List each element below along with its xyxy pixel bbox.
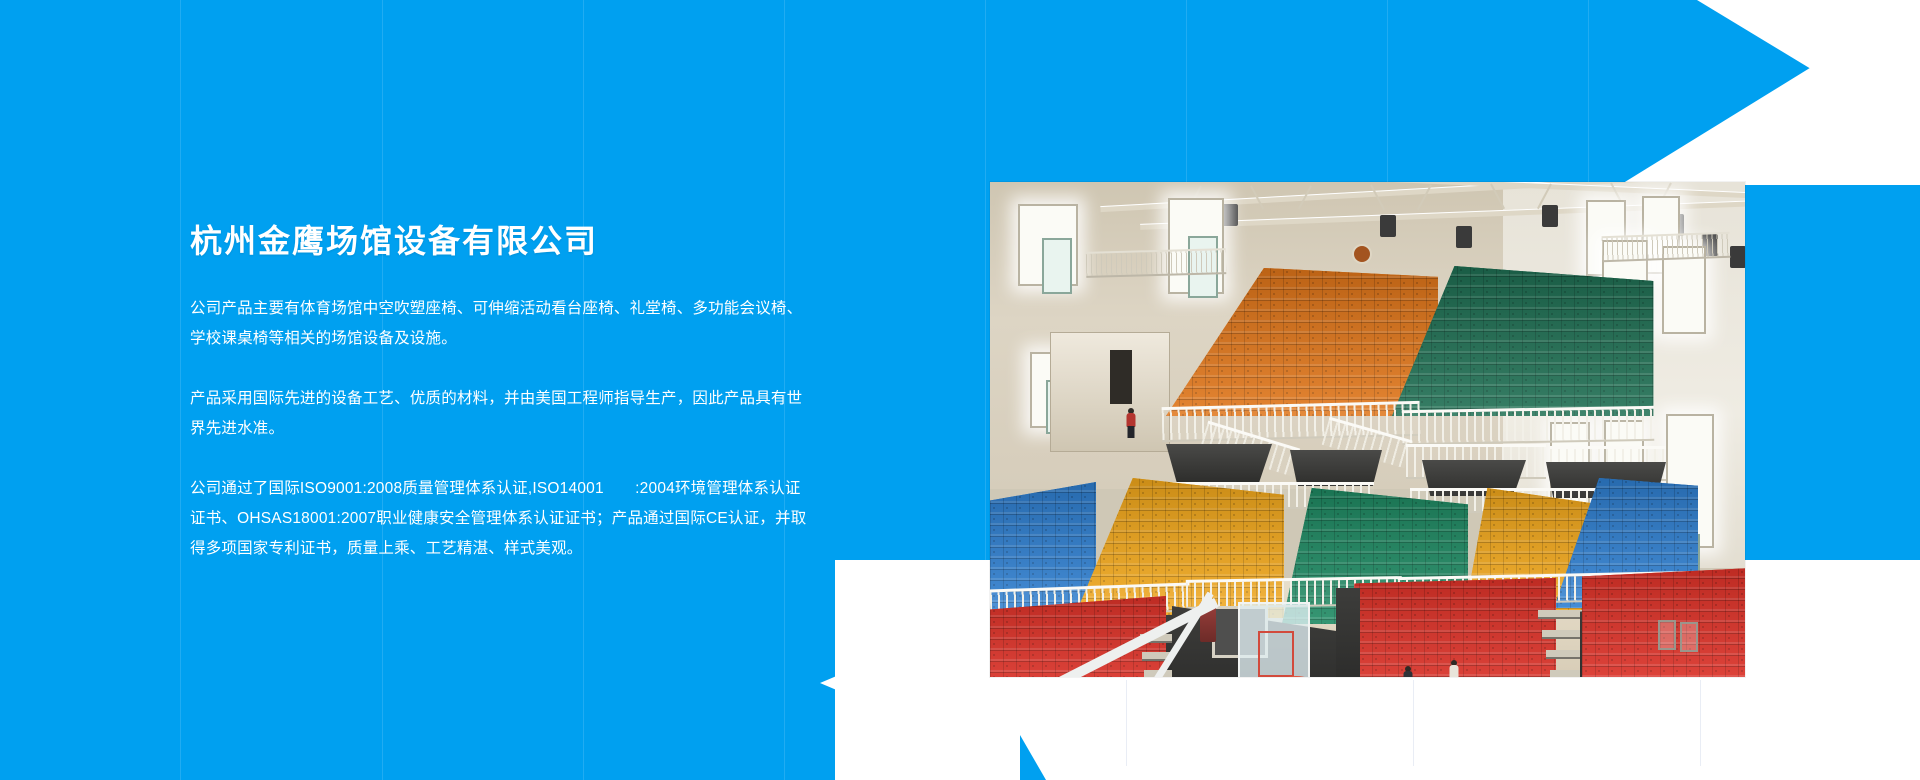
doorway-opening [1110, 350, 1132, 404]
paragraph-certifications: 公司通过了国际ISO9001:2008质量管理体系认证,ISO14001 :20… [190, 474, 810, 564]
ceiling-lamp-icon [1730, 246, 1745, 268]
gymnasium-photo-canvas [990, 182, 1745, 677]
banner-stage: 杭州金鹰场馆设备有限公司 公司产品主要有体育场馆中空吹塑座椅、可伸缩活动看台座椅… [0, 0, 1920, 780]
folding-chair-icon [1658, 620, 1676, 650]
ceiling-lamp-icon [1456, 226, 1472, 248]
company-title: 杭州金鹰场馆设备有限公司 [190, 222, 810, 260]
person-torso [1404, 671, 1413, 677]
person-standing-upper [1126, 408, 1136, 438]
truss-diagonal [1370, 185, 1385, 211]
bleacher-side-panel [1336, 588, 1360, 677]
bleacher-step [1538, 610, 1584, 619]
window-pane [1042, 238, 1072, 294]
backboard-inner-square [1258, 631, 1295, 677]
balcony-railing [1602, 232, 1731, 262]
basketball-backboard [1238, 602, 1310, 677]
person-seated-lower [1448, 660, 1460, 677]
paragraph-products: 公司产品主要有体育场馆中空吹塑座椅、可伸缩活动看台座椅、礼堂椅、多功能会议椅、学… [190, 294, 810, 354]
gymnasium-photo [990, 182, 1745, 677]
ceiling-lamp-icon [1380, 215, 1396, 237]
person-torso [1450, 665, 1459, 677]
safety-railing [1402, 406, 1655, 445]
company-copy-block: 杭州金鹰场馆设备有限公司 公司产品主要有体育场馆中空吹塑座椅、可伸缩活动看台座椅… [190, 222, 810, 564]
ceiling-truss [990, 182, 1745, 240]
person-legs [1128, 426, 1135, 438]
balcony-railing [1086, 248, 1227, 278]
ceiling-lamp-icon [1222, 204, 1238, 226]
ceiling-lamp-icon [1542, 205, 1558, 227]
service-platform [1290, 450, 1382, 486]
wall-emblem-icon [1352, 244, 1372, 264]
folding-chair-icon [1680, 622, 1698, 652]
paragraph-technology: 产品采用国际先进的设备工艺、优质的材料，并由美国工程师指导生产，因此产品具有世界… [190, 384, 810, 444]
person-standing-lower [1402, 666, 1414, 677]
service-platform [1166, 444, 1272, 482]
person-torso [1127, 413, 1136, 427]
